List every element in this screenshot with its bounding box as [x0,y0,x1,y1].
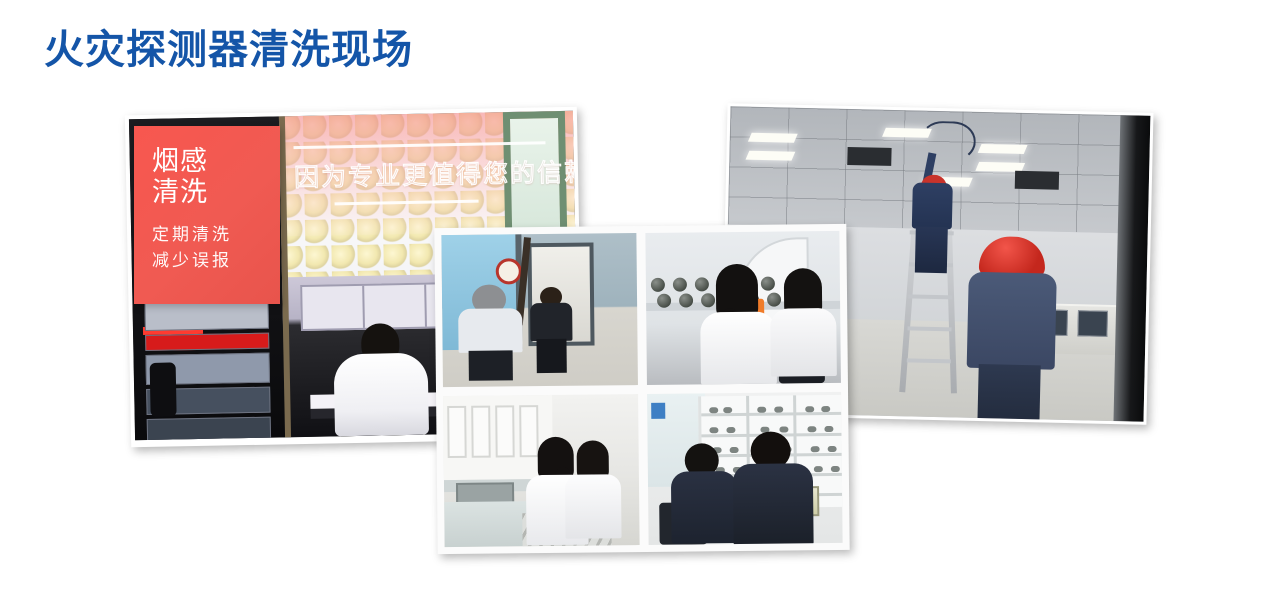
blue-work-uniform [967,272,1057,370]
worker-left [670,443,737,542]
blue-work-uniform [912,182,953,229]
ladder-rung [908,294,952,299]
dark-uniform [530,303,572,341]
ceiling-light [748,133,798,143]
dark-uniform [671,471,738,544]
badge-headline-line1: 烟感 [152,146,280,177]
ladder-rung [907,358,951,363]
photo-collage: 因为专业更值得您的信赖 烟感 清洗 定期清洗 减少误报 [0,95,1280,595]
badge-headline-line2: 清洗 [152,177,280,208]
cleaning-workflow-collage[interactable] [434,224,849,554]
inspector-white-shirt [457,285,522,378]
worker-on-ladder [909,138,956,259]
white-lab-coat [333,353,429,437]
legs [536,339,566,373]
page-title: 火灾探测器清洗现场 [44,30,413,70]
technician-seated-left [333,323,429,437]
white-lab-coat [564,474,621,539]
badge-subline-1: 定期清洗 [152,223,280,248]
worker-right [733,431,814,544]
wall-label [651,403,665,419]
ceiling-vent [847,147,891,166]
rack-alarm-bar [145,333,269,351]
rack-panel [147,417,271,441]
worker-dark-uniform [528,287,575,373]
technician-ponytail [700,263,777,384]
white-lab-coat [770,308,837,377]
dark-uniform [733,463,814,545]
ultrasonic-cleaning-sink-photo[interactable] [443,394,639,548]
technician-second [564,440,621,537]
worker-with-red-helmet [962,236,1062,420]
dark-door-edge [1113,115,1150,422]
white-shirt [458,309,522,354]
telephone-handset [150,362,177,416]
legs [915,227,948,274]
collage-grid [441,231,842,547]
ladder-rung [907,326,951,331]
entrance-inspection-photo[interactable] [441,233,637,387]
badge-subline-2: 减少误报 [152,249,280,274]
lab-bench-detector-testing-photo[interactable] [645,231,841,385]
technician-seated [770,268,837,377]
white-lab-coat [700,311,777,384]
console-monitor [1077,310,1108,337]
ceiling-light [978,144,1028,154]
smoke-detector-cleaning-badge[interactable]: 烟感 清洗 定期清洗 减少误报 [134,126,280,304]
ceiling-vent [1015,171,1059,190]
ceiling-light [746,151,796,161]
legs [468,351,512,381]
legs [977,364,1040,421]
detector-storage-shelves-photo[interactable] [647,391,843,545]
